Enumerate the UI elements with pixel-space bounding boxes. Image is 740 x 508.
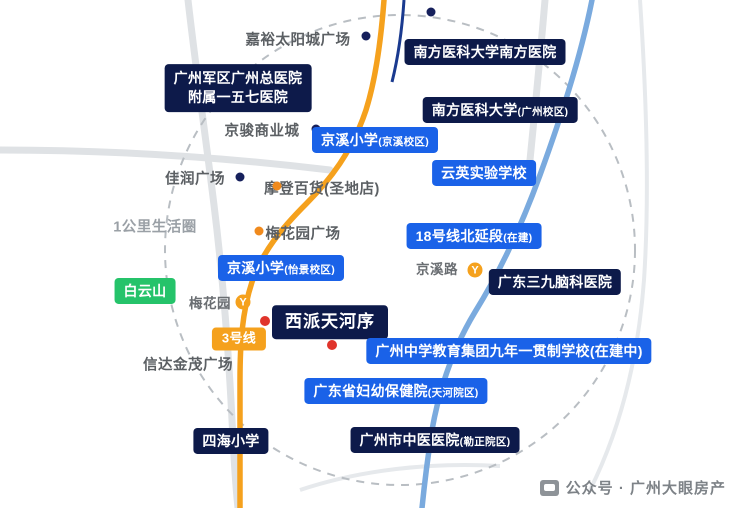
metro-line3-badge[interactable]: 3号线 xyxy=(212,328,266,351)
poi-chip-line1: 广州军区广州总医院 xyxy=(174,69,303,88)
watermark-text: 公众号 · 广州大眼房产 xyxy=(566,477,726,498)
poi-chip-guangdong-maternal-hospital[interactable]: 广东省妇幼保健院(天河院区) xyxy=(304,378,487,404)
station-label-meihuayuan: 梅花园 xyxy=(189,296,231,312)
poi-chip-guangzhou-army-hospital[interactable]: 广州军区广州总医院 附属一五七医院 xyxy=(165,64,312,112)
poi-chip-guangdong-999-brain-hospital[interactable]: 广东三九脑科医院 xyxy=(489,269,621,295)
life-circle-label: 1公里生活圈 xyxy=(113,220,197,237)
poi-chip-sub: (在建) xyxy=(503,232,532,244)
poi-label-meihuayuan-square: 梅花园广场 xyxy=(266,227,341,244)
poi-chip-sihai-primary[interactable]: 四海小学 xyxy=(193,428,268,454)
map-dot-meihuayuan-square xyxy=(255,227,264,236)
map-dot-nanfang-hospital xyxy=(427,8,436,17)
poi-chip-main: 京溪小学 xyxy=(227,260,284,276)
poi-chip-xipai-tianhexu[interactable]: 西派天河序 xyxy=(272,305,388,339)
map-dot-jiayu xyxy=(362,32,371,41)
map-dot-jiarun xyxy=(236,173,245,182)
poi-chip-sub: (天河院区) xyxy=(428,387,479,399)
poi-chip-gz-tcm-hospital[interactable]: 广州市中医医院(勒正院区) xyxy=(351,427,520,453)
poi-chip-main: 广州市中医医院 xyxy=(360,432,460,448)
poi-label-jiayu: 嘉裕太阳城广场 xyxy=(246,33,351,50)
poi-chip-nanfang-medical-univ[interactable]: 南方医科大学(广州校区) xyxy=(423,97,578,123)
poi-chip-jingxi-primary-yijing[interactable]: 京溪小学(怡景校区) xyxy=(218,255,344,281)
poi-chip-sub: (勒正院区) xyxy=(460,436,511,448)
poi-chip-line18-north-extension[interactable]: 18号线北延段(在建) xyxy=(407,223,542,249)
poi-chip-baiyunshan[interactable]: 白云山 xyxy=(115,278,176,304)
wechat-icon xyxy=(540,480,559,496)
map-dot-modeng xyxy=(273,182,282,191)
poi-chip-main: 京溪小学 xyxy=(321,132,378,148)
poi-chip-line2: 附属一五七医院 xyxy=(174,88,303,107)
poi-chip-sub: (广州校区) xyxy=(518,106,569,118)
map-dot-school-site xyxy=(327,340,337,350)
poi-chip-sub: (怡景校区) xyxy=(284,264,335,276)
poi-chip-sub: (京溪校区) xyxy=(378,136,429,148)
poi-label-jingjun: 京骏商业城 xyxy=(225,124,300,141)
poi-label-modeng: 摩登百货(圣地店) xyxy=(264,182,380,199)
poi-chip-jingxi-primary-jingxi[interactable]: 京溪小学(京溪校区) xyxy=(312,127,438,153)
poi-chip-main: 18号线北延段 xyxy=(416,228,504,244)
station-label-jingxilu: 京溪路 xyxy=(416,262,458,278)
poi-label-xinda: 信达金茂广场 xyxy=(143,358,233,375)
watermark: 公众号 · 广州大眼房产 xyxy=(540,477,726,498)
poi-chip-gz-middle-school-group[interactable]: 广州中学教育集团九年一贯制学校(在建中) xyxy=(366,338,651,364)
poi-chip-main: 南方医科大学 xyxy=(432,102,518,118)
poi-chip-yunying-school[interactable]: 云英实验学校 xyxy=(432,160,536,186)
metro-station-icon-jingxilu: Y xyxy=(468,263,483,278)
poi-label-jiarun: 佳润广场 xyxy=(165,172,225,189)
poi-chip-main: 广东省妇幼保健院 xyxy=(313,383,427,399)
map-dot-xipai-tianhexu xyxy=(260,316,270,326)
poi-chip-nanfang-hospital[interactable]: 南方医科大学南方医院 xyxy=(405,39,566,65)
metro-station-icon-meihuayuan: Y xyxy=(236,295,251,310)
